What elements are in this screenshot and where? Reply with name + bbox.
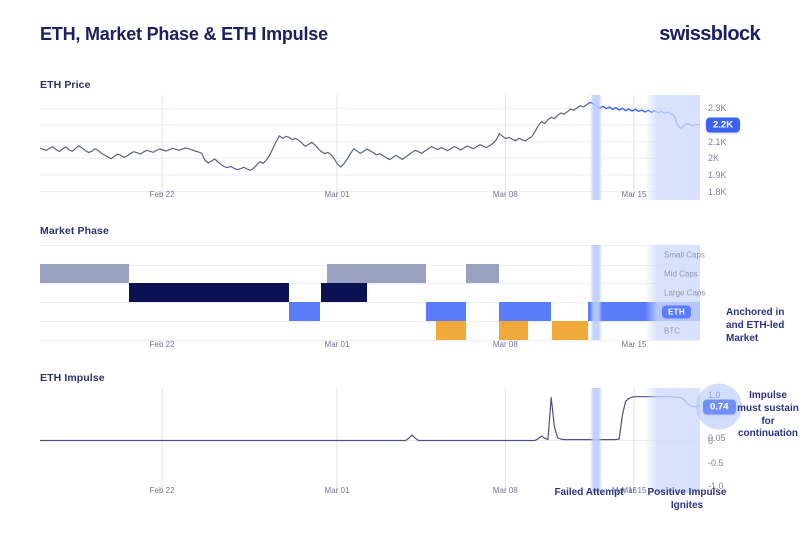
eth-price-chart xyxy=(40,95,700,200)
eth-price-plot xyxy=(40,95,700,200)
market-phase-row-btc xyxy=(40,321,700,341)
market-phase-row-mid-caps xyxy=(40,264,700,284)
phase-x-tick: Mar 08 xyxy=(493,340,518,349)
price-x-tick: Mar 15 xyxy=(622,190,647,199)
price-x-tick: Feb 22 xyxy=(150,190,175,199)
page-title: ETH, Market Phase & ETH Impulse xyxy=(40,24,328,45)
market-phase-segment xyxy=(466,264,499,283)
market-phase-segment xyxy=(499,321,529,340)
annotation-positive-impulse: Positive Impulse Ignites xyxy=(636,487,738,513)
market-phase-segment xyxy=(327,264,426,283)
market-phase-segment xyxy=(436,321,466,340)
market-phase-rows xyxy=(40,245,700,340)
price-y-tick: 2K xyxy=(708,153,719,163)
market-phase-segment xyxy=(426,302,466,321)
price-y-tick: 2.3K xyxy=(708,103,727,113)
market-phase-row-small-caps xyxy=(40,245,700,266)
phase-x-tick: Mar 15 xyxy=(622,340,647,349)
market-phase-row-label: BTC xyxy=(664,326,680,335)
impulse-x-tick: Mar 08 xyxy=(493,486,518,495)
annotation-failed-attempt: Failed Attempt xyxy=(546,487,632,500)
market-phase-row-label: Mid Caps xyxy=(664,269,698,278)
section-title-eth-impulse: ETH Impulse xyxy=(40,372,105,384)
market-phase-row-eth xyxy=(40,302,700,322)
price-current-value-badge: 2.2K xyxy=(706,118,740,133)
impulse-current-value-badge: 0.74 xyxy=(703,399,736,414)
phase-x-tick: Feb 22 xyxy=(150,340,175,349)
market-phase-segment xyxy=(321,283,367,302)
market-phase-segment xyxy=(552,321,588,340)
brand-logo: swissblock xyxy=(659,23,760,46)
market-phase-segment xyxy=(40,264,129,283)
market-phase-segment xyxy=(499,302,552,321)
price-y-tick: 1.8K xyxy=(708,187,727,197)
section-title-eth-price: ETH Price xyxy=(40,79,91,91)
annotation-impulse-sustain: Impulse must sustain for continuation xyxy=(736,390,800,441)
eth-impulse-chart xyxy=(40,388,700,493)
phase-x-tick: Mar 01 xyxy=(325,340,350,349)
market-phase-segment xyxy=(289,302,320,321)
impulse-y-tick: -0.5 xyxy=(708,458,724,468)
impulse-x-tick: Mar 01 xyxy=(325,486,350,495)
market-phase-row-label: Small Caps xyxy=(664,250,705,259)
market-phase-row-large-caps xyxy=(40,283,700,303)
impulse-x-tick: Feb 22 xyxy=(150,486,175,495)
market-phase-chart xyxy=(40,245,700,340)
market-phase-eth-badge: ETH xyxy=(662,305,691,318)
market-phase-segment xyxy=(129,283,289,302)
section-title-market-phase: Market Phase xyxy=(40,225,109,237)
impulse-y-tick: 0 xyxy=(708,436,713,446)
price-x-tick: Mar 01 xyxy=(325,190,350,199)
slide-root: ETH, Market Phase & ETH Impulse swissblo… xyxy=(0,0,800,545)
annotation-anchored-market: Anchored in and ETH-led Market xyxy=(726,307,798,345)
market-phase-row-label: Large Caps xyxy=(664,288,705,297)
price-x-tick: Mar 08 xyxy=(493,190,518,199)
eth-impulse-plot xyxy=(40,388,700,493)
price-y-tick: 1.9K xyxy=(708,170,727,180)
price-y-tick: 2.1K xyxy=(708,137,727,147)
